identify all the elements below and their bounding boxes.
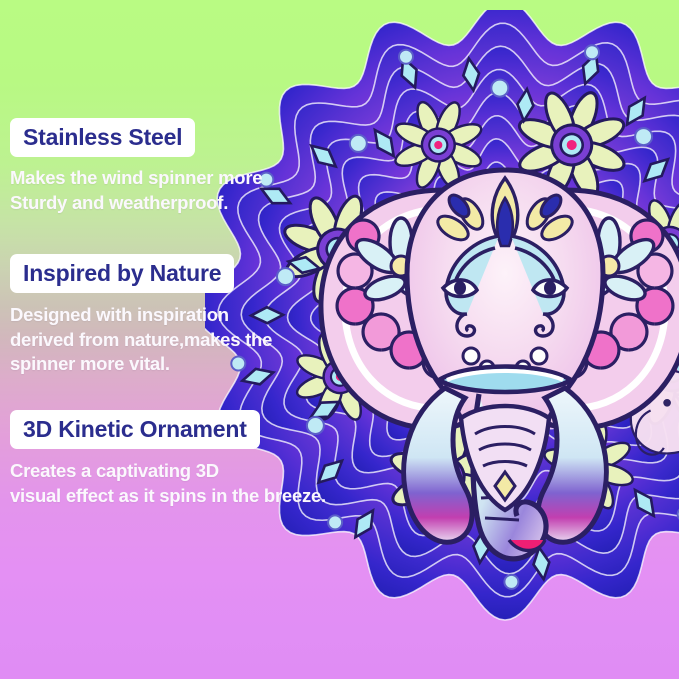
gem-diamond (639, 153, 673, 186)
desc-line: Makes the wind spinner more (10, 166, 380, 190)
gem-diamond (672, 388, 679, 417)
desc-line: Sturdy and weatherproof. (10, 191, 380, 215)
gem-diamond (516, 88, 535, 121)
feature-badge-inspired-by-nature: Inspired by Nature (10, 254, 234, 293)
gem-diamond (423, 486, 449, 522)
desc-line: spinner more vital. (10, 352, 380, 376)
feature-block-3d-kinetic-ornament: 3D Kinetic Ornament Creates a captivatin… (10, 410, 380, 508)
mandala-flower (372, 406, 516, 550)
mandala-flower (379, 85, 499, 205)
feature-block-stainless-steel: Stainless Steel Makes the wind spinner m… (10, 118, 380, 215)
gem-diamond (349, 506, 380, 542)
gem-diamond (472, 530, 491, 563)
spinner-ring (357, 162, 653, 458)
feature-badge-3d-kinetic-ornament: 3D Kinetic Ornament (10, 410, 260, 449)
feature-description-inspired-by-nature: Designed with inspiration derived from n… (10, 303, 380, 376)
elephant-head (407, 170, 603, 442)
feature-description-stainless-steel: Makes the wind spinner more Sturdy and w… (10, 166, 380, 215)
gem-diamond (629, 485, 661, 520)
gem-dot (635, 128, 652, 145)
feature-badge-stainless-steel: Stainless Steel (10, 118, 195, 157)
gem-dot (328, 515, 342, 529)
elephant-trunk (473, 394, 546, 559)
mandala-flower (610, 184, 679, 304)
gem-diamond (396, 55, 423, 91)
spinner-core (377, 182, 633, 438)
mandala-flower (526, 405, 650, 529)
feature-block-inspired-by-nature: Inspired by Nature Designed with inspira… (10, 254, 380, 377)
desc-line: derived from nature,makes the (10, 328, 380, 352)
gem-diamond (531, 546, 551, 580)
gem-dot (585, 45, 599, 59)
desc-line: Designed with inspiration (10, 303, 380, 327)
elephant-tusks (404, 388, 607, 542)
gem-dot (399, 50, 413, 64)
gem-diamond (569, 483, 596, 519)
desc-line: visual effect as it spins in the breeze. (10, 484, 380, 508)
feature-description-3d-kinetic-ornament: Creates a captivating 3D visual effect a… (10, 459, 380, 508)
desc-line: Creates a captivating 3D (10, 459, 380, 483)
baby-elephant (631, 370, 679, 455)
gem-dot (426, 512, 443, 529)
mandala-flower (499, 72, 645, 218)
spinner-ring (334, 139, 676, 481)
product-feature-image: Stainless Steel Makes the wind spinner m… (0, 0, 679, 679)
gem-dot (577, 508, 594, 525)
elephant-eyes (443, 280, 567, 297)
gem-diamond (461, 57, 481, 91)
gem-dot (504, 575, 518, 589)
elephant-jaw-ornament (461, 406, 549, 510)
gem-diamond (578, 51, 604, 87)
gem-dot (491, 80, 508, 97)
spinner-ring (380, 185, 630, 435)
gem-diamond (620, 93, 651, 129)
elephant-ear-right (514, 190, 679, 428)
mandala-flower (601, 299, 679, 443)
